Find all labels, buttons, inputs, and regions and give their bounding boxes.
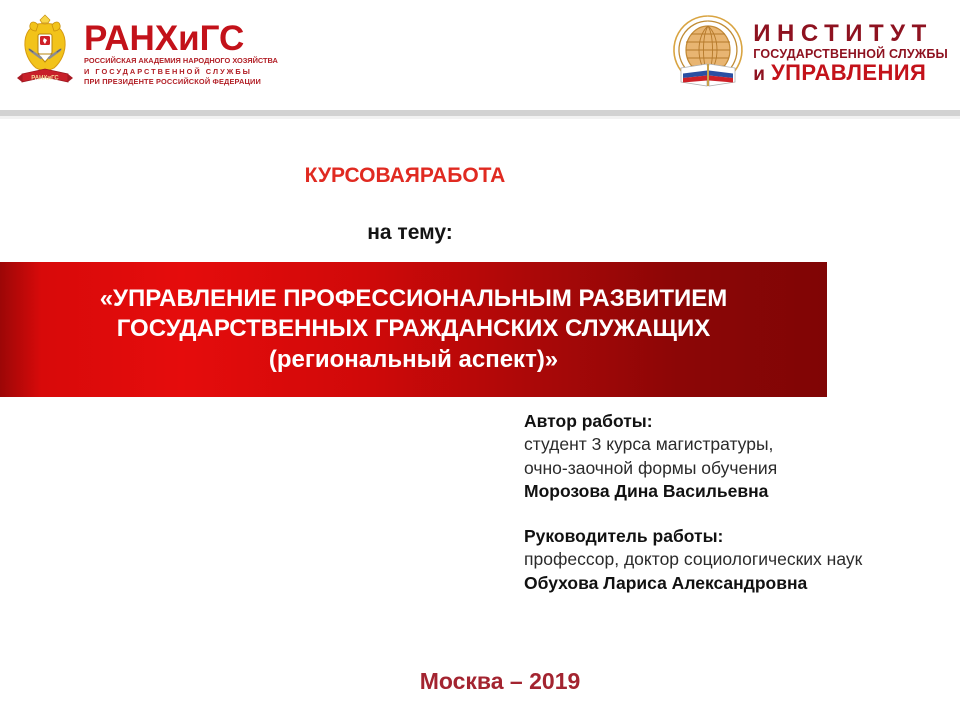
author-detail-1: студент 3 курса магистратуры, (524, 433, 944, 456)
thesis-title-line-2: ГОСУДАРСТВЕННЫХ ГРАЖДАНСКИХ СЛУЖАЩИХ (14, 314, 813, 344)
city-year-footer: Москва – 2019 (0, 668, 960, 695)
author-detail-2: очно-заочной формы обучения (524, 457, 944, 480)
ranepa-acronym: РАНХиГС (84, 22, 278, 56)
author-name: Морозова Дина Васильевна (524, 480, 944, 503)
supervisor-detail-1: профессор, доктор социологических наук (524, 548, 944, 571)
ranepa-subtitle-line-1: РОССИЙСКАЯ АКАДЕМИЯ НАРОДНОГО ХОЗЯЙСТВА (84, 56, 278, 67)
author-block: Автор работы: студент 3 курса магистрату… (524, 410, 944, 503)
ranepa-subtitle-line-2: И ГОСУДАРСТВЕННОЙ СЛУЖБЫ (84, 67, 278, 78)
credits-block: Автор работы: студент 3 курса магистрату… (524, 410, 944, 617)
work-type-heading: КУРСОВАЯРАБОТА (0, 164, 810, 188)
on-topic-label: на тему: (0, 221, 820, 245)
igsu-line-2: ГОСУДАРСТВЕННОЙ СЛУЖБЫ (753, 47, 948, 61)
igsu-line-3: и УПРАВЛЕНИЯ (753, 61, 948, 86)
slide-header: РАНХиГС РАНХиГС РОССИЙСКАЯ АКАДЕМИЯ НАРО… (0, 0, 960, 110)
ranepa-subtitle-line-3: ПРИ ПРЕЗИДЕНТЕ РОССИЙСКОЙ ФЕДЕРАЦИИ (84, 77, 278, 88)
supervisor-name: Обухова Лариса Александровна (524, 572, 944, 595)
igsu-line-3-main: УПРАВЛЕНИЯ (771, 60, 926, 85)
ranepa-eagle-emblem: РАНХиГС (14, 12, 76, 98)
svg-text:РАНХиГС: РАНХиГС (31, 76, 59, 82)
igsu-logo: ИНСТИТУТ ГОСУДАРСТВЕННОЙ СЛУЖБЫ и УПРАВЛ… (669, 10, 948, 98)
ranepa-logo: РАНХиГС РАНХиГС РОССИЙСКАЯ АКАДЕМИЯ НАРО… (14, 12, 278, 98)
supervisor-label: Руководитель работы: (524, 525, 944, 548)
igsu-line-3-prefix: и (753, 64, 765, 85)
supervisor-block: Руководитель работы: профессор, доктор с… (524, 525, 944, 595)
ranepa-logo-text: РАНХиГС РОССИЙСКАЯ АКАДЕМИЯ НАРОДНОГО ХО… (84, 22, 278, 88)
thesis-title-line-3: (региональный аспект)» (14, 345, 813, 375)
igsu-globe-book-emblem (669, 10, 747, 98)
author-label: Автор работы: (524, 410, 944, 433)
header-divider-rule-soft (0, 116, 960, 119)
igsu-line-1: ИНСТИТУТ (753, 22, 948, 47)
thesis-title-text: «УПРАВЛЕНИЕ ПРОФЕССИОНАЛЬНЫМ РАЗВИТИЕМ Г… (0, 284, 827, 375)
igsu-logo-text: ИНСТИТУТ ГОСУДАРСТВЕННОЙ СЛУЖБЫ и УПРАВЛ… (753, 22, 948, 85)
thesis-title-line-1: «УПРАВЛЕНИЕ ПРОФЕССИОНАЛЬНЫМ РАЗВИТИЕМ (14, 284, 813, 314)
thesis-title-banner: «УПРАВЛЕНИЕ ПРОФЕССИОНАЛЬНЫМ РАЗВИТИЕМ Г… (0, 262, 827, 397)
